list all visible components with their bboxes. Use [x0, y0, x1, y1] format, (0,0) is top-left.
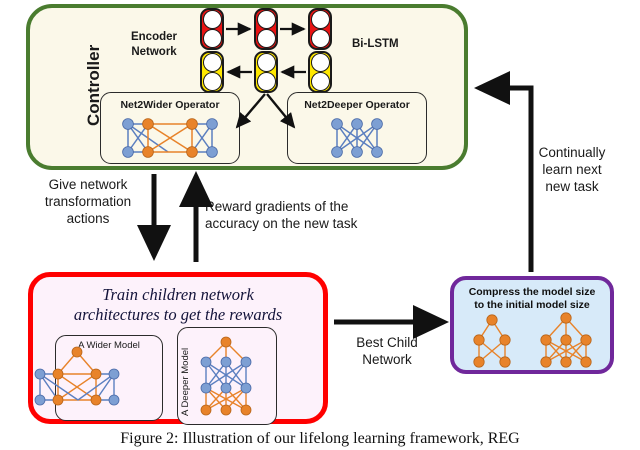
deeper-model-box: A Deeper Model: [177, 327, 277, 425]
encoder-label-line-1: Encoder: [106, 30, 202, 45]
wider-model-title: A Wider Model: [56, 340, 162, 351]
continually-line-2: learn next: [516, 161, 628, 178]
lstm-dot: [203, 10, 222, 29]
bilstm-label: Bi-LSTM: [352, 38, 432, 50]
lstm-cell-forward-2: [254, 8, 278, 50]
deeper-model-title: A Deeper Model: [180, 336, 194, 416]
lstm-cell-forward-3: [308, 8, 332, 50]
figure-canvas: Controller Encoder Network Bi-LSTM Net2W…: [0, 0, 640, 450]
lstm-dot: [311, 10, 330, 29]
best-child-line-1: Best Child: [336, 334, 438, 351]
lstm-dot: [257, 10, 276, 29]
encoder-label-line-2: Network: [106, 45, 202, 60]
figure-caption: Figure 2: Illustration of our lifelong l…: [0, 430, 640, 448]
lstm-dot: [311, 53, 330, 72]
lstm-cell-backward-3: [308, 51, 332, 93]
reward-line-2: accuracy on the new task: [205, 215, 395, 232]
train-title-line-1: Train children network: [39, 285, 317, 305]
continually-line-1: Continually: [516, 144, 628, 161]
compress-title: Compress the model size to the initial m…: [458, 286, 606, 312]
compress-title-line-1: Compress the model size: [458, 286, 606, 299]
continually-learn-label: Continually learn next new task: [516, 144, 628, 195]
net2deeper-operator-box: Net2Deeper Operator: [287, 92, 427, 164]
lstm-cell-backward-2: [254, 51, 278, 93]
net2wider-operator-box: Net2Wider Operator: [100, 92, 240, 164]
lstm-cell-forward-1: [200, 8, 224, 50]
compress-panel: Compress the model size to the initial m…: [450, 276, 614, 374]
net2deeper-operator-title: Net2Deeper Operator: [288, 99, 426, 111]
lstm-dot: [203, 72, 222, 91]
best-child-network-label: Best Child Network: [336, 334, 438, 368]
give-actions-line-1: Give network: [22, 176, 154, 193]
lstm-dot: [203, 53, 222, 72]
reward-line-1: Reward gradients of the: [205, 198, 395, 215]
lstm-dot: [257, 72, 276, 91]
encoder-network-label: Encoder Network: [106, 30, 202, 60]
net2wider-operator-title: Net2Wider Operator: [101, 99, 239, 111]
give-actions-line-3: actions: [22, 210, 154, 227]
compress-title-line-2: to the initial model size: [458, 299, 606, 312]
train-children-title: Train children network architectures to …: [39, 285, 317, 325]
lstm-dot: [311, 29, 330, 48]
continually-line-3: new task: [516, 178, 628, 195]
train-title-line-2: architectures to get the rewards: [39, 305, 317, 325]
wider-model-box: A Wider Model: [55, 335, 163, 421]
give-actions-label: Give network transformation actions: [22, 176, 154, 227]
lstm-dot: [203, 29, 222, 48]
lstm-dot: [257, 29, 276, 48]
lstm-cell-backward-1: [200, 51, 224, 93]
best-child-line-2: Network: [336, 351, 438, 368]
give-actions-line-2: transformation: [22, 193, 154, 210]
lstm-dot: [257, 53, 276, 72]
train-children-panel: Train children network architectures to …: [28, 272, 328, 424]
lstm-dot: [311, 72, 330, 91]
reward-gradients-label: Reward gradients of the accuracy on the …: [205, 198, 395, 232]
